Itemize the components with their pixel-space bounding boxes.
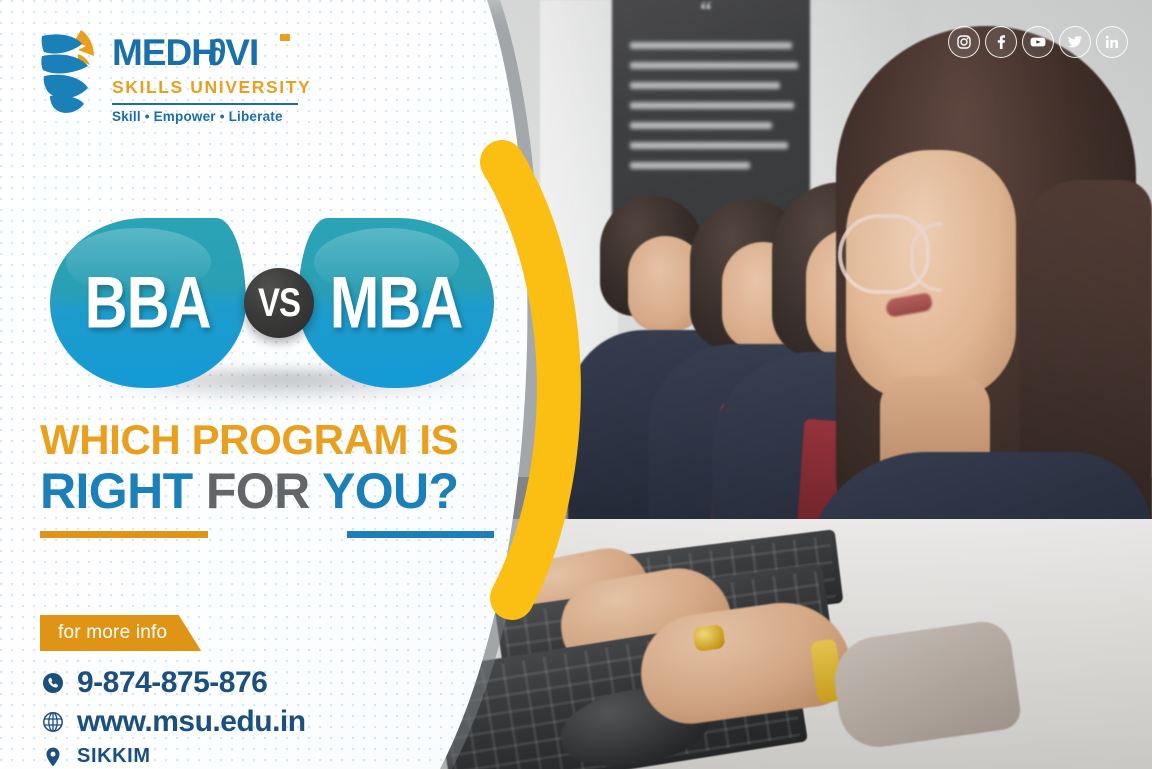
underline-blue bbox=[347, 531, 494, 538]
for-more-info-ribbon: for more info bbox=[40, 615, 201, 651]
website-url: www.msu.edu.in bbox=[77, 704, 306, 739]
phone-icon bbox=[40, 670, 66, 696]
facebook-icon[interactable] bbox=[985, 26, 1017, 58]
finger-ring bbox=[692, 624, 725, 652]
contact-block: for more info 9-874-875-876 bbox=[40, 615, 306, 769]
promo-banner: “ bbox=[0, 0, 1152, 769]
underline-orange bbox=[40, 531, 208, 538]
social-links bbox=[948, 26, 1128, 58]
versus-label: VS bbox=[258, 280, 300, 326]
headline-block: WHICH PROGRAM IS RIGHT FOR YOU? bbox=[40, 418, 510, 546]
contact-row-location: SIKKIM bbox=[40, 744, 306, 769]
logo-name: MEDH ∂VI bbox=[112, 34, 311, 74]
versus-badge: VS bbox=[244, 268, 314, 338]
svg-text:∂VI: ∂VI bbox=[208, 34, 258, 73]
shield-flame-logo-icon bbox=[38, 26, 102, 118]
twitter-icon[interactable] bbox=[1059, 26, 1091, 58]
headline-line-1: WHICH PROGRAM IS bbox=[40, 418, 510, 463]
contact-row-phone[interactable]: 9-874-875-876 bbox=[40, 665, 306, 700]
medhavi-wordmark-icon: MEDH ∂VI bbox=[112, 34, 302, 74]
logo-tagline: Skill • Empower • Liberate bbox=[112, 109, 311, 124]
mba-badge[interactable]: MBA bbox=[298, 218, 494, 388]
logo-subtitle-university: UNIVERSITY bbox=[190, 77, 311, 97]
headline-for-word: FOR bbox=[206, 463, 310, 519]
linkedin-icon[interactable] bbox=[1096, 26, 1128, 58]
mba-label: MBA bbox=[330, 261, 463, 345]
logo-subtitle: SKILLS UNIVERSITY bbox=[112, 79, 311, 97]
logo-subtitle-skills: SKILLS bbox=[112, 77, 184, 97]
headline-line-2: RIGHT FOR YOU? bbox=[40, 465, 510, 518]
bba-label: BBA bbox=[85, 261, 211, 345]
quote-mark-icon: “ bbox=[700, 0, 712, 25]
map-pin-icon bbox=[40, 744, 66, 769]
youtube-icon[interactable] bbox=[1022, 26, 1054, 58]
svg-text:MEDH: MEDH bbox=[112, 34, 217, 73]
location-name: SIKKIM bbox=[77, 745, 151, 769]
phone-number: 9-874-875-876 bbox=[77, 665, 267, 700]
logo-divider bbox=[112, 103, 298, 105]
headline-you-word: YOU? bbox=[322, 463, 459, 519]
bba-badge[interactable]: BBA bbox=[50, 218, 246, 388]
logo-wordmark: MEDH ∂VI SKILLS UNIVERSITY Skill • Empow… bbox=[112, 26, 311, 124]
program-comparison-graphic: BBA VS MBA bbox=[40, 210, 500, 400]
globe-icon bbox=[40, 709, 66, 735]
headline-right-word: RIGHT bbox=[40, 463, 193, 519]
headline-underlines bbox=[40, 528, 510, 546]
contact-row-website[interactable]: www.msu.edu.in bbox=[40, 704, 306, 739]
instagram-icon[interactable] bbox=[948, 26, 980, 58]
contact-rows: 9-874-875-876 www.msu.edu.in bbox=[40, 665, 306, 769]
brand-logo[interactable]: MEDH ∂VI SKILLS UNIVERSITY Skill • Empow… bbox=[38, 26, 311, 124]
